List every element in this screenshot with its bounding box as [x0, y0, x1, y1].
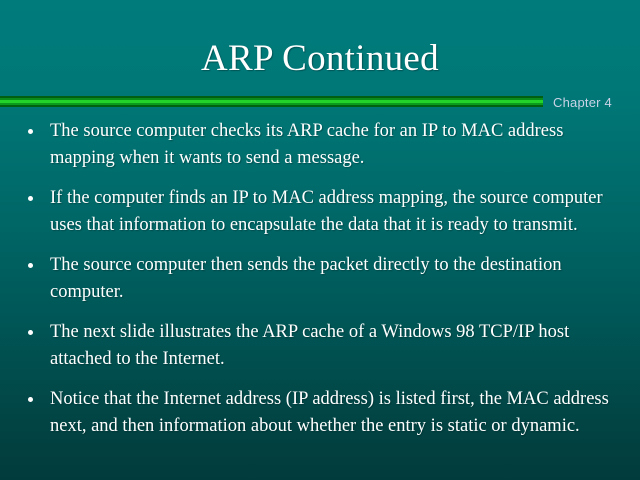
presentation-slide: ARP Continued Chapter 4 The source compu… — [0, 0, 640, 480]
slide-title-area: ARP Continued — [0, 26, 640, 90]
list-item-text: The next slide illustrates the ARP cache… — [50, 319, 610, 373]
round-bullet-icon — [28, 263, 33, 268]
round-bullet-icon — [28, 196, 33, 201]
list-item: The source computer then sends the packe… — [16, 252, 624, 306]
round-bullet-icon — [28, 129, 33, 134]
list-item-text: Notice that the Internet address (IP add… — [50, 386, 610, 440]
list-item: The source computer checks its ARP cache… — [16, 118, 624, 172]
round-bullet-icon — [28, 397, 33, 402]
round-bullet-icon — [28, 330, 33, 335]
divider-line-dark-bottom — [0, 105, 543, 107]
list-item-text: The source computer then sends the packe… — [50, 252, 610, 306]
list-item-text: If the computer finds an IP to MAC addre… — [50, 185, 610, 239]
chapter-label: Chapter 4 — [553, 95, 612, 110]
green-divider-bar — [0, 96, 543, 107]
list-item-text: The source computer checks its ARP cache… — [50, 118, 610, 172]
list-item: If the computer finds an IP to MAC addre… — [16, 185, 624, 239]
title-divider-row: Chapter 4 — [0, 95, 640, 117]
list-item: Notice that the Internet address (IP add… — [16, 386, 624, 440]
page-title: ARP Continued — [201, 40, 439, 77]
slide-bullet-list: The source computer checks its ARP cache… — [16, 118, 624, 440]
list-item: The next slide illustrates the ARP cache… — [16, 319, 624, 373]
